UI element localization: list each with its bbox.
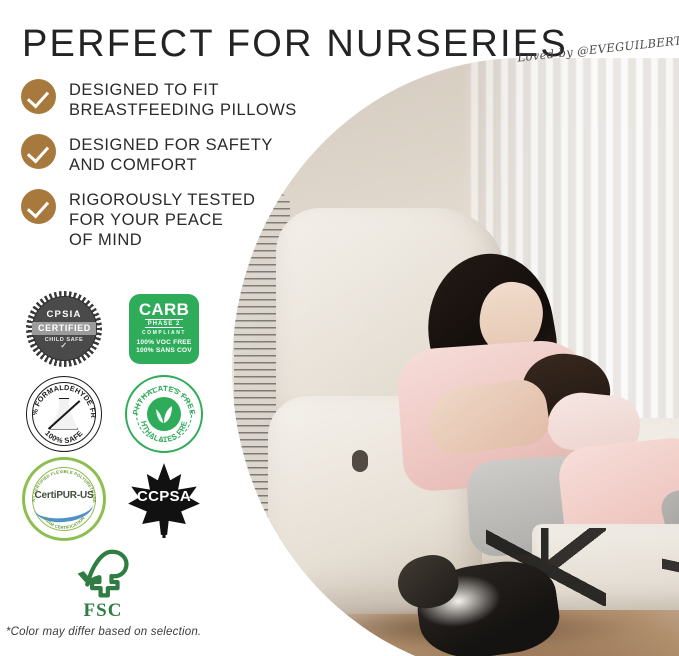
feature-line: RIGOROUSLY TESTED	[69, 190, 255, 210]
feature-item: DESIGNED TO FIT BREASTFEEDING PILLOWS	[21, 78, 301, 120]
check-icon	[21, 79, 56, 114]
cpsia-certified-badge: CPSIA CERTIFIED CHILD SAFE ✓	[26, 291, 102, 367]
feature-line: BREASTFEEDING PILLOWS	[69, 100, 297, 120]
ccpsa-badge: CCPSA	[125, 460, 203, 538]
certification-badges: CPSIA CERTIFIED CHILD SAFE ✓ CARB PHASE …	[14, 286, 214, 626]
carb-compliant: COMPLIANT	[142, 330, 186, 336]
badge-row: FSC	[14, 541, 214, 626]
svg-text:PHTHALATES FREE: PHTHALATES FREE	[124, 370, 189, 444]
check-icon	[21, 134, 56, 169]
phthalates-arc-text: PHTHALATES FREE PHTHALATES FREE	[127, 377, 201, 451]
cpsia-check-icon: ✓	[60, 343, 67, 349]
leaf-icon	[147, 397, 181, 431]
formaldehyde-bottom-text: 100% SAFE	[43, 428, 85, 444]
check-icon	[21, 189, 56, 224]
badge-row: 100% FORMALDEHYDE FREE 100% SAFE	[14, 371, 214, 456]
feature-text: DESIGNED FOR SAFETY AND COMFORT	[69, 133, 273, 175]
badge-cell: CARB PHASE 2 COMPLIANT 100% VOC FREE 100…	[114, 294, 214, 364]
carb-title: CARB	[139, 302, 189, 318]
badge-row: CPSIA CERTIFIED CHILD SAFE ✓ CARB PHASE …	[14, 286, 214, 371]
recliner-mechanism-right	[662, 534, 679, 606]
badge-cell: CPSIA CERTIFIED CHILD SAFE ✓	[14, 291, 114, 367]
feature-text: DESIGNED TO FIT BREASTFEEDING PILLOWS	[69, 78, 297, 120]
fsc-badge: FSC	[60, 546, 146, 622]
fsc-tree-checkmark-icon	[72, 547, 134, 599]
svg-text:100% SAFE: 100% SAFE	[43, 428, 85, 444]
svg-text:PHTHALATES FREE: PHTHALATES FREE	[131, 383, 197, 415]
certipur-label: CertiPUR-US	[35, 490, 94, 501]
feature-line: OF MIND	[69, 230, 255, 250]
certipur-us-badge: CertiPUR-US CONTENT CERTIFIED FLEXIBLE P…	[22, 457, 106, 541]
cpsia-band: CERTIFIED	[32, 322, 96, 335]
feature-line: DESIGNED FOR SAFETY	[69, 135, 273, 155]
badge-cell: PHTHALATES FREE PHTHALATES FREE	[114, 375, 214, 453]
carb-phase2-badge: CARB PHASE 2 COMPLIANT 100% VOC FREE 100…	[129, 294, 199, 364]
page-title: PERFECT FOR NURSERIES	[22, 23, 568, 66]
cpsia-inner: CPSIA CERTIFIED CHILD SAFE ✓	[32, 296, 97, 361]
disclaimer-text: *Color may differ based on selection.	[6, 626, 201, 638]
phthalates-bottom-text: PHTHALATES FREE	[124, 370, 189, 444]
feature-line: DESIGNED TO FIT	[69, 80, 297, 100]
feature-line: FOR YOUR PEACE	[69, 210, 255, 230]
carb-voc-line: 100% VOC FREE	[136, 339, 191, 347]
badge-cell: 100% FORMALDEHYDE FREE 100% SAFE	[14, 376, 114, 452]
feature-item: RIGOROUSLY TESTED FOR YOUR PEACE OF MIND	[21, 188, 301, 250]
badge-cell: CertiPUR-US CONTENT CERTIFIED FLEXIBLE P…	[14, 457, 114, 541]
phthalates-free-badge: PHTHALATES FREE PHTHALATES FREE	[125, 375, 203, 453]
badge-row: CertiPUR-US CONTENT CERTIFIED FLEXIBLE P…	[14, 456, 214, 541]
recliner-knob	[352, 450, 368, 472]
nursery-feature-panel: Loved by @EVEGUILBERT PERFECT FOR NURSER…	[0, 0, 679, 656]
fsc-label: FSC	[84, 600, 123, 622]
feature-list: DESIGNED TO FIT BREASTFEEDING PILLOWS DE…	[21, 78, 301, 263]
feature-text: RIGOROUSLY TESTED FOR YOUR PEACE OF MIND	[69, 188, 255, 250]
carb-cov-line: 100% SANS COV	[136, 347, 192, 355]
badge-cell: CCPSA	[114, 460, 214, 538]
cpsia-title: CPSIA	[46, 309, 81, 320]
formaldehyde-free-badge: 100% FORMALDEHYDE FREE 100% SAFE	[26, 376, 102, 452]
ccpsa-label: CCPSA	[137, 488, 191, 505]
feature-item: DESIGNED FOR SAFETY AND COMFORT	[21, 133, 301, 175]
feature-line: AND COMFORT	[69, 155, 273, 175]
carb-phase: PHASE 2	[145, 319, 184, 328]
phthalates-top-text: PHTHALATES FREE	[131, 383, 197, 415]
